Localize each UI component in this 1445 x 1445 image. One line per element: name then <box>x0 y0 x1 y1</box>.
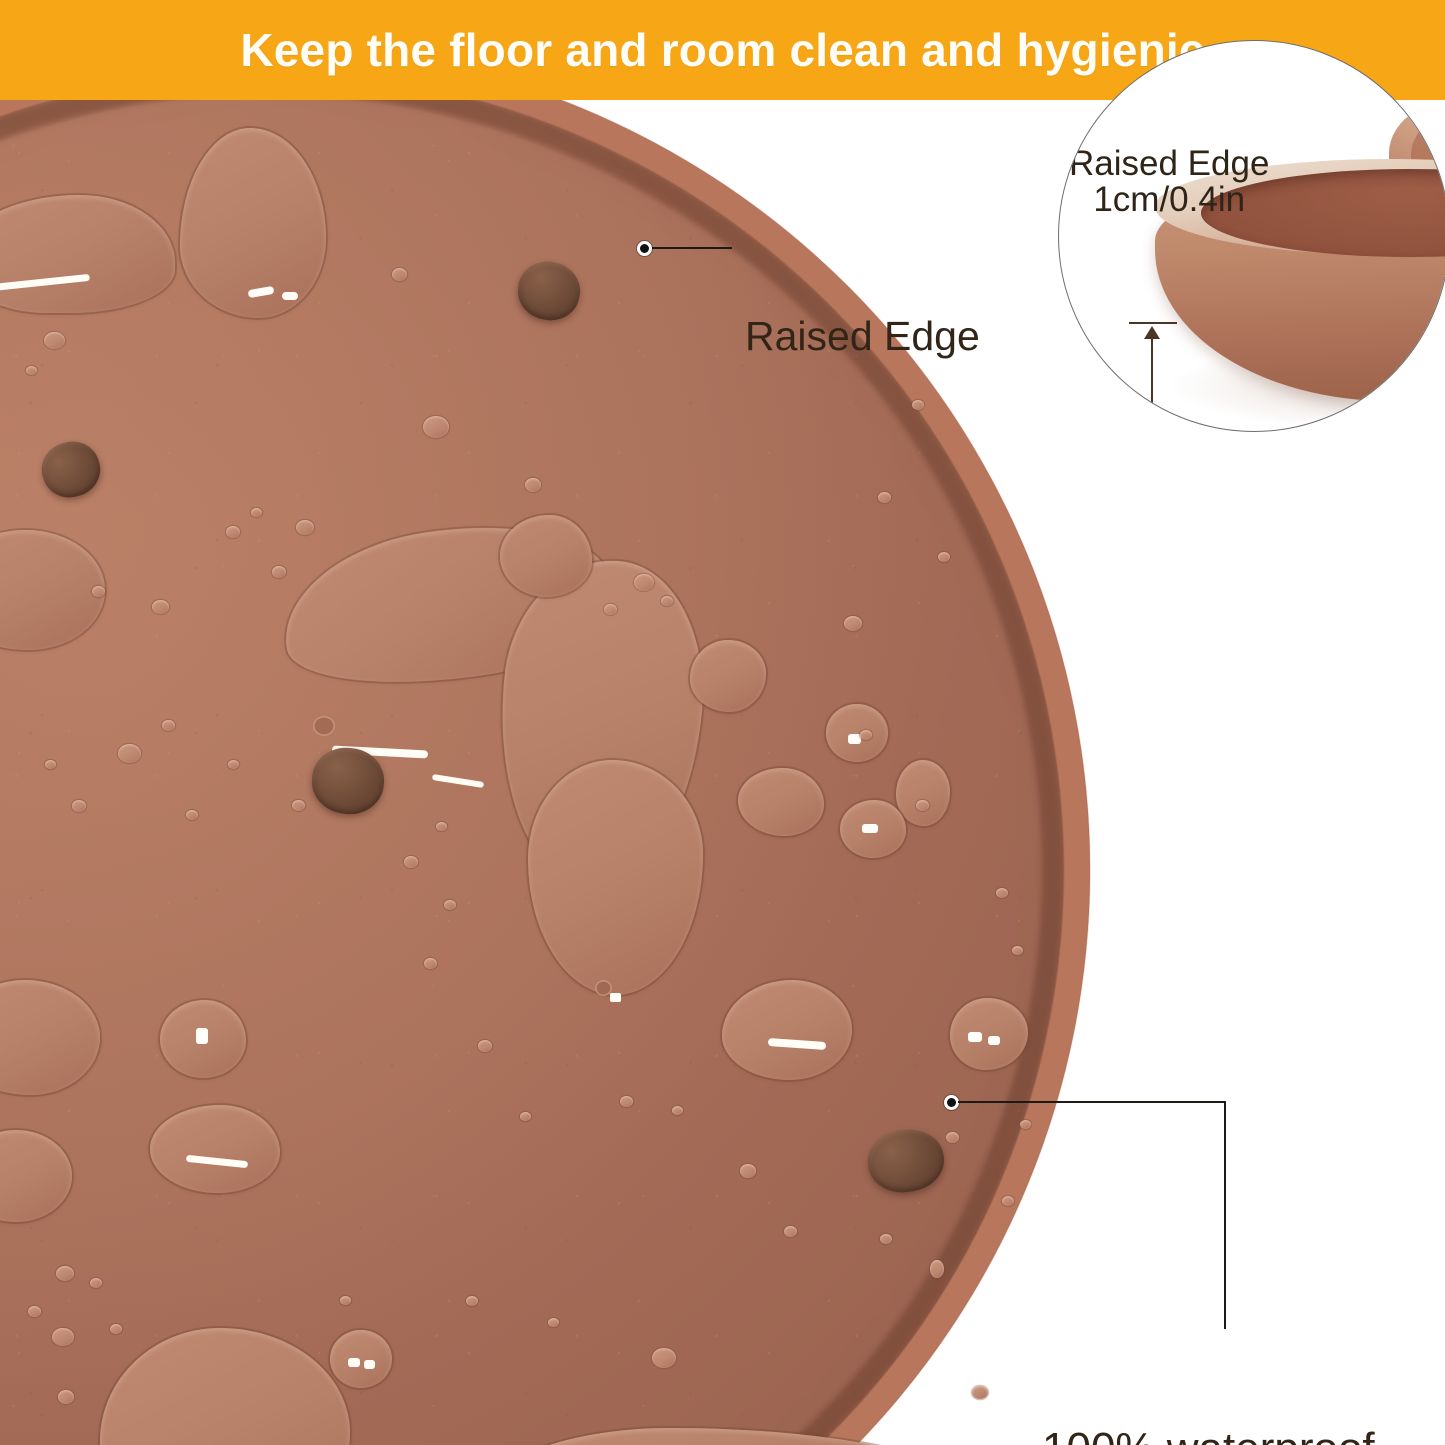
water-droplet <box>930 1260 944 1278</box>
water-droplet <box>604 604 617 615</box>
water-droplet <box>423 416 449 438</box>
water-droplet <box>880 1234 892 1244</box>
water-droplet <box>661 596 673 606</box>
water-droplet <box>620 1096 633 1107</box>
water-droplet <box>26 366 37 375</box>
water-puddle <box>826 704 888 762</box>
water-droplet <box>912 400 924 410</box>
waterproof-label: 100% waterproof <box>1042 1424 1375 1445</box>
water-droplet <box>938 552 950 562</box>
water-highlight <box>988 1036 1000 1045</box>
water-highlight <box>364 1360 375 1369</box>
water-droplet <box>296 520 314 535</box>
water-bubble <box>313 716 335 736</box>
inset-title: Raised Edge 1cm/0.4in <box>1069 146 1269 218</box>
water-puddle <box>330 1330 392 1388</box>
raised-edge-label: Raised Edge <box>745 313 980 360</box>
water-highlight <box>282 292 298 300</box>
water-droplet <box>392 268 407 281</box>
raised-edge-detail-inset: Raised Edge 1cm/0.4in <box>1058 40 1445 432</box>
waterproof-leader-horizontal <box>958 1101 1226 1103</box>
water-droplet <box>90 1278 102 1288</box>
water-highlight <box>610 993 621 1002</box>
water-droplet <box>424 958 437 969</box>
water-droplet <box>186 810 198 820</box>
water-droplet <box>152 600 169 614</box>
water-puddle <box>690 640 766 712</box>
water-droplet <box>844 616 862 631</box>
water-droplet <box>860 730 872 740</box>
water-droplet <box>58 1390 74 1404</box>
water-droplet <box>110 1324 122 1334</box>
water-droplet <box>996 888 1008 898</box>
dimension-top-cap <box>1129 322 1177 324</box>
water-droplet <box>916 800 929 811</box>
raised-edge-marker-dot <box>637 241 652 256</box>
inset-title-line1: Raised Edge <box>1069 144 1269 183</box>
water-droplet <box>740 1164 756 1178</box>
dimension-shaft <box>1151 329 1153 432</box>
water-droplet <box>226 526 240 538</box>
water-droplet <box>972 1386 988 1399</box>
water-droplet <box>44 332 65 349</box>
water-droplet <box>652 1348 676 1368</box>
water-droplet <box>525 478 541 492</box>
water-droplet <box>292 800 305 811</box>
water-droplet <box>56 1266 74 1281</box>
water-droplet <box>45 760 56 769</box>
water-highlight <box>196 1028 208 1044</box>
water-droplet <box>1002 1196 1014 1206</box>
water-highlight <box>862 824 878 833</box>
water-highlight <box>968 1032 982 1042</box>
water-droplet <box>444 900 456 910</box>
water-droplet <box>1020 1120 1031 1129</box>
water-puddle <box>896 760 950 826</box>
water-droplet <box>162 720 175 731</box>
water-droplet <box>478 1040 492 1052</box>
water-droplet <box>92 586 105 597</box>
water-droplet <box>1012 946 1023 955</box>
water-droplet <box>28 1306 41 1317</box>
water-droplet <box>784 1226 797 1237</box>
water-droplet <box>272 566 286 578</box>
water-droplet <box>118 744 141 763</box>
water-droplet <box>672 1106 683 1115</box>
water-droplet <box>634 574 654 591</box>
water-droplet <box>520 1112 531 1121</box>
water-droplet <box>548 1318 559 1327</box>
raised-edge-leader-line <box>652 247 732 249</box>
waterproof-leader-vertical <box>1224 1101 1226 1329</box>
water-droplet <box>340 1296 351 1305</box>
water-puddle <box>738 768 824 836</box>
water-droplet <box>404 856 418 868</box>
waterproof-marker-dot <box>944 1095 959 1110</box>
water-droplet <box>251 508 262 517</box>
inset-title-line2: 1cm/0.4in <box>1069 182 1269 218</box>
raised-edge-cross-section-photo <box>1059 41 1445 432</box>
water-droplet <box>52 1328 74 1346</box>
water-droplet <box>436 822 447 831</box>
water-puddle <box>150 1105 280 1193</box>
water-droplet <box>72 800 86 812</box>
water-droplet <box>946 1132 959 1143</box>
water-droplet <box>228 760 239 769</box>
water-highlight <box>348 1358 360 1367</box>
water-droplet <box>878 492 891 503</box>
water-puddle <box>500 515 592 597</box>
product-infographic: Keep the floor and room clean and hygien… <box>0 0 1445 1445</box>
water-droplet <box>466 1296 478 1306</box>
